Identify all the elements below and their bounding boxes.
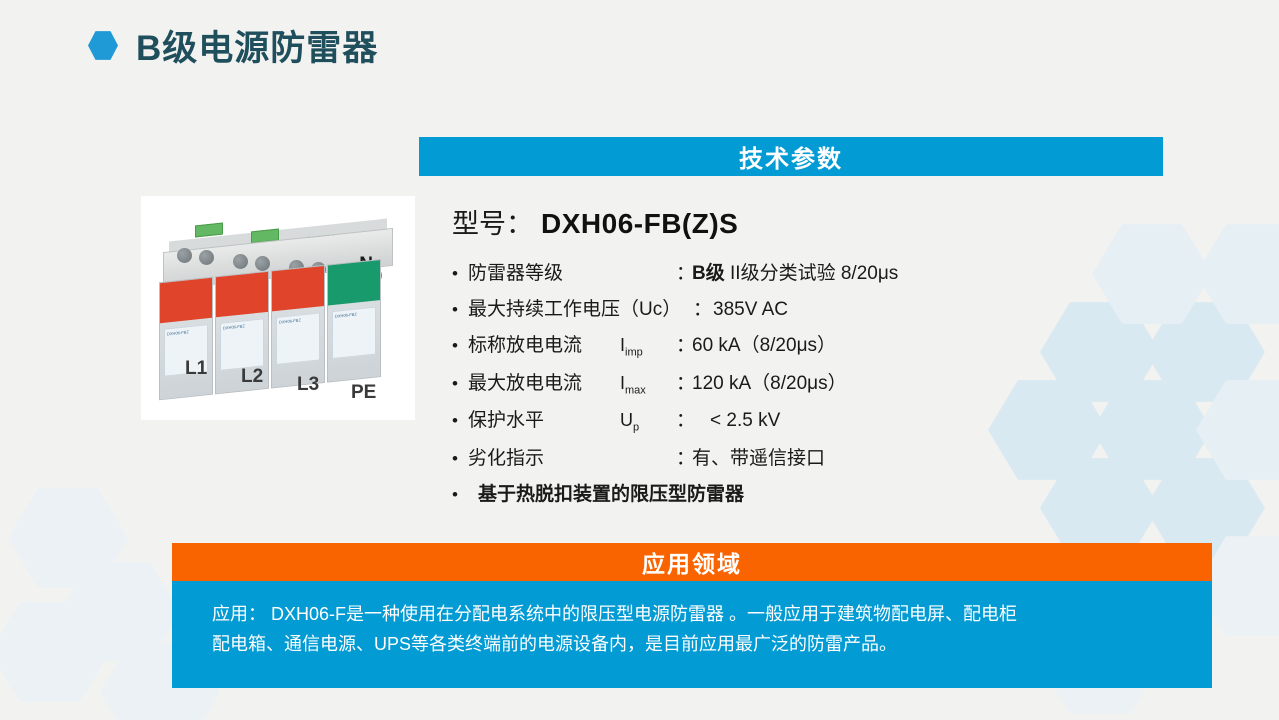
application-line-1: 应用： DXH06-F是一种使用在分配电系统中的限压型电源防雷器 。一般应用于建… [212, 599, 1200, 629]
bullet-icon: • [452, 412, 468, 429]
spec-value: 120 kA（8/20μs） [692, 368, 847, 395]
spec-value-rest: II级分类试验 8/20μs [725, 263, 899, 284]
spec-symbol-subscript: p [633, 422, 639, 434]
application-header: 应用领域 [172, 543, 1212, 581]
spd-module: DXH06-FBZ [271, 265, 325, 389]
spec-name: 最大持续工作电压（Uc） [468, 294, 693, 321]
spec-row-iimp: • 标称放电电流 Iimp ： 60 kA（8/20μs） [452, 330, 1012, 359]
spd-pole-label-l1: L1 [185, 358, 207, 380]
spec-value: 有、带遥信接口 [692, 443, 825, 470]
product-image: N DXH06-FBZ DXH06-FBZ DXH06-FBZ DXH06-FB… [141, 196, 415, 420]
hexagon-shape [1145, 300, 1265, 404]
spd-module-label: DXH06-FBZ [220, 318, 264, 371]
page-title: B级电源防雷器 [88, 20, 378, 71]
hexagon-shape [1092, 222, 1212, 326]
slide-canvas: B级电源防雷器 技术参数 N DXH06-FBZ [0, 0, 1279, 720]
spec-colon: ： [676, 443, 692, 470]
model-value: DXH06-FB(Z)S [541, 208, 738, 240]
hexagon-shape [0, 600, 110, 704]
spec-colon: ： [676, 330, 692, 357]
spec-symbol-letter: U [620, 410, 633, 430]
spec-symbol-subscript: imp [625, 347, 643, 359]
spd-screw [177, 248, 192, 263]
bullet-icon: • [452, 337, 468, 354]
bullet-icon: • [452, 375, 468, 392]
spec-name: 标称放电电流 [468, 330, 620, 357]
spec-colon: ： [693, 294, 709, 321]
spec-symbol: Imax [620, 373, 676, 397]
spec-name: 防雷器等级 [468, 258, 620, 285]
hexagon-shape [1196, 378, 1279, 482]
model-label: 型号： [452, 202, 533, 241]
spd-module-cap [328, 260, 380, 305]
spec-colon: ： [676, 368, 692, 395]
spec-value: 60 kA（8/20μs） [692, 330, 836, 357]
bullet-icon: • [452, 265, 468, 282]
model-line: 型号： DXH06-FB(Z)S [452, 202, 738, 241]
hexagon-shape [1196, 222, 1279, 326]
hexagon-shape [1092, 378, 1212, 482]
spec-value: < 2.5 kV [710, 410, 780, 432]
spec-row-uc: • 最大持续工作电压（Uc） ： 385V AC [452, 294, 1012, 321]
spec-row-grade: • 防雷器等级 ： B级 II级分类试验 8/20μs [452, 258, 1012, 285]
spd-screw [199, 250, 214, 265]
spec-row-note: • 基于热脱扣装置的限压型防雷器 [452, 479, 1012, 506]
application-header-label: 应用领域 [642, 545, 742, 579]
spec-list: • 防雷器等级 ： B级 II级分类试验 8/20μs • 最大持续工作电压（U… [452, 258, 1012, 515]
hexagon-shape [8, 486, 128, 590]
spec-note-text: 基于热脱扣装置的限压型防雷器 [468, 479, 744, 506]
tech-params-header: 技术参数 [419, 137, 1163, 176]
spec-value-bold: B级 [692, 263, 725, 284]
bullet-icon: • [452, 450, 468, 467]
tech-params-header-label: 技术参数 [739, 139, 843, 174]
page-title-text: B级电源防雷器 [136, 20, 378, 71]
application-line-2: 配电箱、通信电源、UPS等各类终端前的电源设备内，是目前应用最广泛的防雷产品。 [212, 629, 1200, 659]
spd-pole-label-pe: PE [351, 382, 376, 404]
spec-colon: ： [676, 258, 692, 285]
hexagon-shape [60, 560, 180, 664]
spec-symbol: Up [620, 410, 676, 434]
spec-name: 劣化指示 [468, 443, 620, 470]
spd-module: DXH06-FBZ [327, 259, 381, 383]
spd-module-label: DXH06-FBZ [276, 312, 320, 365]
application-body: 应用： DXH06-F是一种使用在分配电系统中的限压型电源防雷器 。一般应用于建… [172, 581, 1212, 688]
spec-value: B级 II级分类试验 8/20μs [692, 258, 898, 285]
spec-row-up: • 保护水平 Up ： < 2.5 kV [452, 405, 1012, 434]
spd-screw [255, 256, 270, 271]
hexagon-shape [1040, 300, 1160, 404]
spd-device-illustration: N DXH06-FBZ DXH06-FBZ DXH06-FBZ DXH06-FB… [155, 218, 403, 404]
spd-module-cap [160, 278, 212, 323]
spd-module-label: DXH06-FBZ [332, 306, 376, 359]
spec-row-imax: • 最大放电电流 Imax ： 120 kA（8/20μs） [452, 368, 1012, 397]
spd-pole-label-l3: L3 [297, 374, 319, 396]
spec-symbol: Iimp [620, 335, 676, 359]
spec-row-indicator: • 劣化指示 ： 有、带遥信接口 [452, 443, 1012, 470]
bullet-icon: • [452, 486, 468, 503]
spec-name: 最大放电电流 [468, 368, 620, 395]
spd-module-cap [216, 272, 268, 317]
spec-value: 385V AC [713, 299, 788, 321]
spec-name: 保护水平 [468, 405, 620, 432]
spd-screw [233, 254, 248, 269]
spec-symbol-subscript: max [625, 384, 646, 396]
bullet-icon: • [452, 301, 468, 318]
spd-module: DXH06-FBZ [159, 277, 213, 401]
spec-colon: ： [676, 405, 692, 432]
hexagon-icon [88, 31, 118, 61]
spd-module-cap [272, 266, 324, 311]
spd-pole-label-l2: L2 [241, 366, 263, 388]
